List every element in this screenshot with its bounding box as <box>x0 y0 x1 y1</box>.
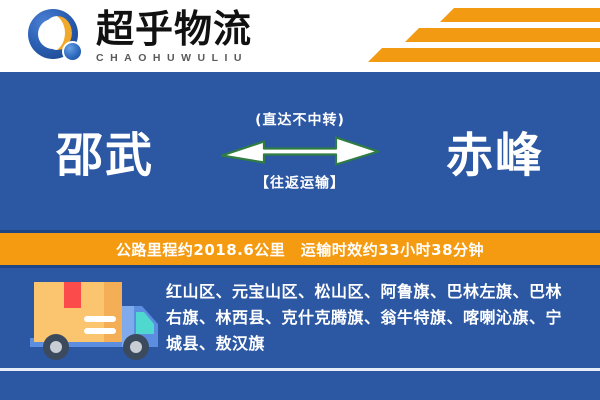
coverage-districts-text: 红山区、元宝山区、松山区、阿鲁旗、巴林左旗、巴林右旗、林西县、克什克腾旗、翁牛特… <box>166 279 578 357</box>
route-arrow-group: (直达不中转) 【往返运输】 <box>200 110 400 193</box>
origin-city: 邵武 <box>56 117 154 186</box>
logo-dot-icon <box>62 41 83 62</box>
roundtrip-note: 【往返运输】 <box>200 173 400 193</box>
company-logo-icon <box>26 7 88 65</box>
brand-name-cn: 超乎物流 <box>96 8 252 50</box>
route-section: 邵武 (直达不中转) 【往返运输】 赤峰 <box>0 72 600 230</box>
banner-header: 超乎物流 CHAOHUWULIU <box>0 0 600 72</box>
distance-duration-text: 公路里程约2018.6公里 运输时效约33小时38分钟 <box>116 239 484 260</box>
coverage-section: 红山区、元宝山区、松山区、阿鲁旗、巴林左旗、巴林右旗、林西县、克什克腾旗、翁牛特… <box>0 268 600 400</box>
stripe-3 <box>368 48 600 62</box>
orange-chevron-stripes-icon <box>350 8 600 66</box>
route-info-bar: 公路里程约2018.6公里 运输时效约33小时38分钟 <box>0 230 600 268</box>
brand-name-en: CHAOHUWULIU <box>96 51 252 65</box>
direct-service-note: (直达不中转) <box>200 110 400 130</box>
brand-text: 超乎物流 CHAOHUWULIU <box>96 8 252 65</box>
stripe-2 <box>405 28 600 42</box>
bottom-divider <box>0 368 600 371</box>
delivery-truck-icon <box>26 276 168 368</box>
destination-city: 赤峰 <box>446 117 544 186</box>
stripe-1 <box>440 8 600 22</box>
logistics-route-banner: 超乎物流 CHAOHUWULIU 邵武 (直达不中转) 【往返运输】 赤峰 公路… <box>0 0 600 400</box>
bidirectional-arrow-icon <box>220 134 380 168</box>
brand-logo: 超乎物流 CHAOHUWULIU <box>26 7 252 65</box>
